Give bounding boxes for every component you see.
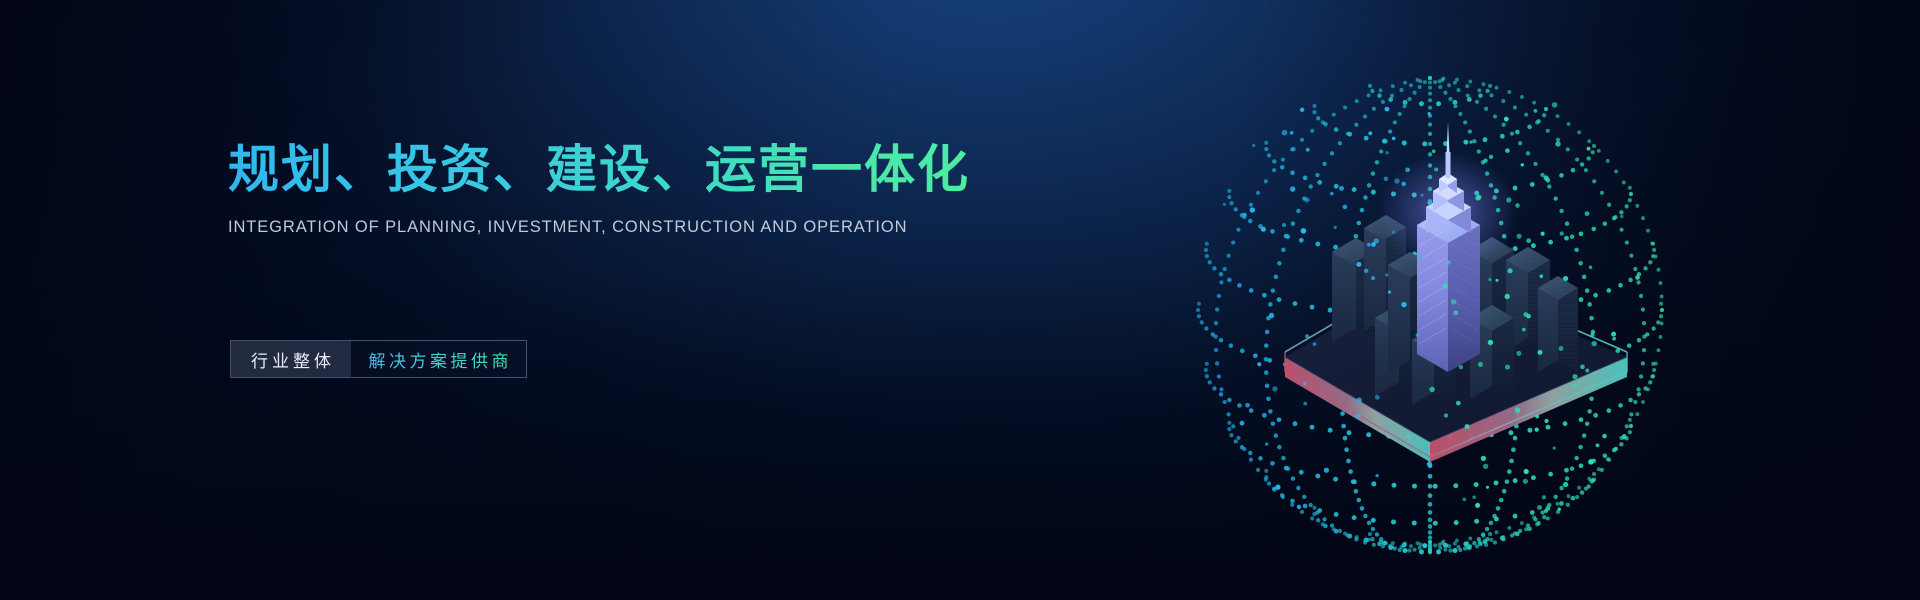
hero-text-block: 规划、投资、建设、运营一体化 INTEGRATION OF PLANNING, … [228,138,1048,237]
badge-label-accent: 解决方案提供商 [351,341,526,377]
badge-label-primary: 行业整体 [231,341,351,377]
smart-city-illustration [1180,60,1680,560]
hero-banner: 规划、投资、建设、运营一体化 INTEGRATION OF PLANNING, … [0,0,1920,600]
tagline-badge: 行业整体 解决方案提供商 [230,340,527,378]
page-title: 规划、投资、建设、运营一体化 [228,138,1048,202]
page-subtitle: INTEGRATION OF PLANNING, INVESTMENT, CON… [228,218,1048,237]
